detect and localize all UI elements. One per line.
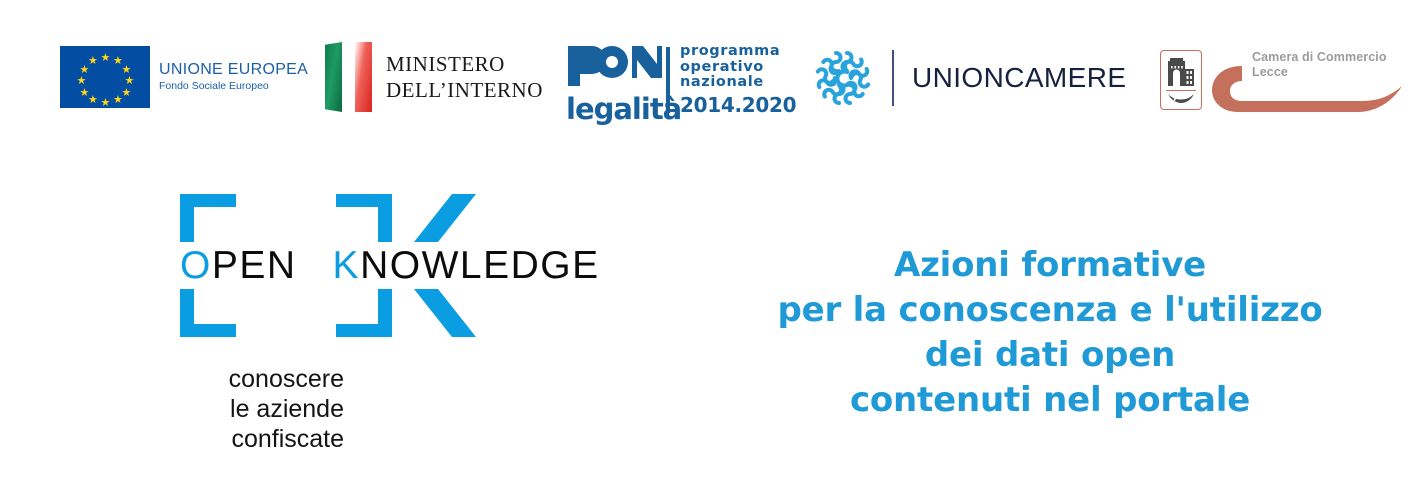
unioncamere-emblem-icon — [812, 46, 874, 110]
logo-unioncamere: UNIONCAMERE — [812, 46, 1126, 110]
eu-flag-icon: ★ ★ ★ ★ ★ ★ ★ ★ ★ ★ ★ ★ — [60, 46, 150, 108]
ministero-text-block: MINISTERO DELL’INTERNO — [386, 51, 543, 103]
page-title: Azioni formative per la conoscenza e l'u… — [730, 243, 1370, 423]
eu-title: UNIONE EUROPEA — [159, 61, 308, 79]
camera-text-block: Camera di Commercio Lecce — [1252, 50, 1387, 80]
camera-line-1: Camera di Commercio — [1252, 50, 1387, 65]
open-knowledge-logo: OPENKNOWLEDGE — [176, 188, 576, 343]
pon-prog-line-1: programma — [680, 44, 796, 60]
pon-prog-line-3: nazionale — [680, 75, 796, 91]
eu-text-block: UNIONE EUROPEA Fondo Sociale Europeo — [159, 61, 308, 93]
open-knowledge-tagline: conoscere le aziende confiscate — [176, 364, 344, 454]
flag-white-gap — [342, 42, 355, 112]
logo-european-union: ★ ★ ★ ★ ★ ★ ★ ★ ★ ★ ★ ★ UNIONE EUROPEA F… — [60, 46, 308, 108]
logo-ministero-interno: MINISTERO DELL’INTERNO — [325, 42, 543, 112]
logo-pon-legalita: legalità programma operativo nazionale 2… — [566, 44, 796, 117]
headline-line-2: per la conoscenza e l'utilizzo — [730, 288, 1370, 333]
building-icon — [1165, 55, 1197, 88]
pon-mark-block: legalità — [566, 44, 662, 116]
open-knowledge-wordmark: OPENKNOWLEDGE — [180, 244, 576, 288]
headline-line-1: Azioni formative — [730, 243, 1370, 288]
wordmark-knowledge-rest: NOWLEDGE — [360, 244, 600, 287]
camera-line-2: Lecce — [1252, 65, 1387, 80]
wordmark-open-rest: PEN — [212, 244, 297, 287]
eu-subtitle: Fondo Sociale Europeo — [159, 79, 308, 93]
eu-stars: ★ ★ ★ ★ ★ ★ ★ ★ ★ ★ ★ ★ — [60, 46, 150, 108]
pon-program-text: programma operativo nazionale 2014.2020 — [680, 44, 796, 117]
pon-years: 2014.2020 — [680, 93, 796, 117]
camera-badge-rule — [1166, 90, 1196, 91]
pon-prog-line-2: operativo — [680, 60, 796, 76]
ministero-line-2: DELL’INTERNO — [386, 77, 543, 103]
dolphin-icon — [1167, 92, 1195, 106]
unioncamere-name: UNIONCAMERE — [912, 62, 1126, 94]
pon-logotype-icon — [566, 44, 662, 88]
tagline-line-3: confiscate — [176, 424, 344, 454]
wordmark-open-o: O — [180, 244, 212, 287]
headline-line-3: dei dati open — [730, 333, 1370, 378]
camera-badge-icon — [1160, 50, 1202, 110]
partner-logo-strip: ★ ★ ★ ★ ★ ★ ★ ★ ★ ★ ★ ★ UNIONE EUROPEA F… — [0, 34, 1414, 134]
flag-green-bar — [325, 42, 342, 112]
tagline-line-1: conoscere — [176, 364, 344, 394]
italian-flag-icon — [325, 42, 372, 112]
unioncamere-divider — [892, 50, 894, 106]
logo-camera-di-commercio-lecce: Camera di Commercio Lecce — [1160, 44, 1408, 116]
headline-line-4: contenuti nel portale — [730, 378, 1370, 423]
tagline-line-2: le aziende — [176, 394, 344, 424]
wordmark-knowledge-k: K — [333, 244, 361, 287]
pon-word-legalita: legalità — [566, 94, 662, 124]
ministero-line-1: MINISTERO — [386, 51, 543, 77]
flag-red-bar — [355, 42, 372, 112]
